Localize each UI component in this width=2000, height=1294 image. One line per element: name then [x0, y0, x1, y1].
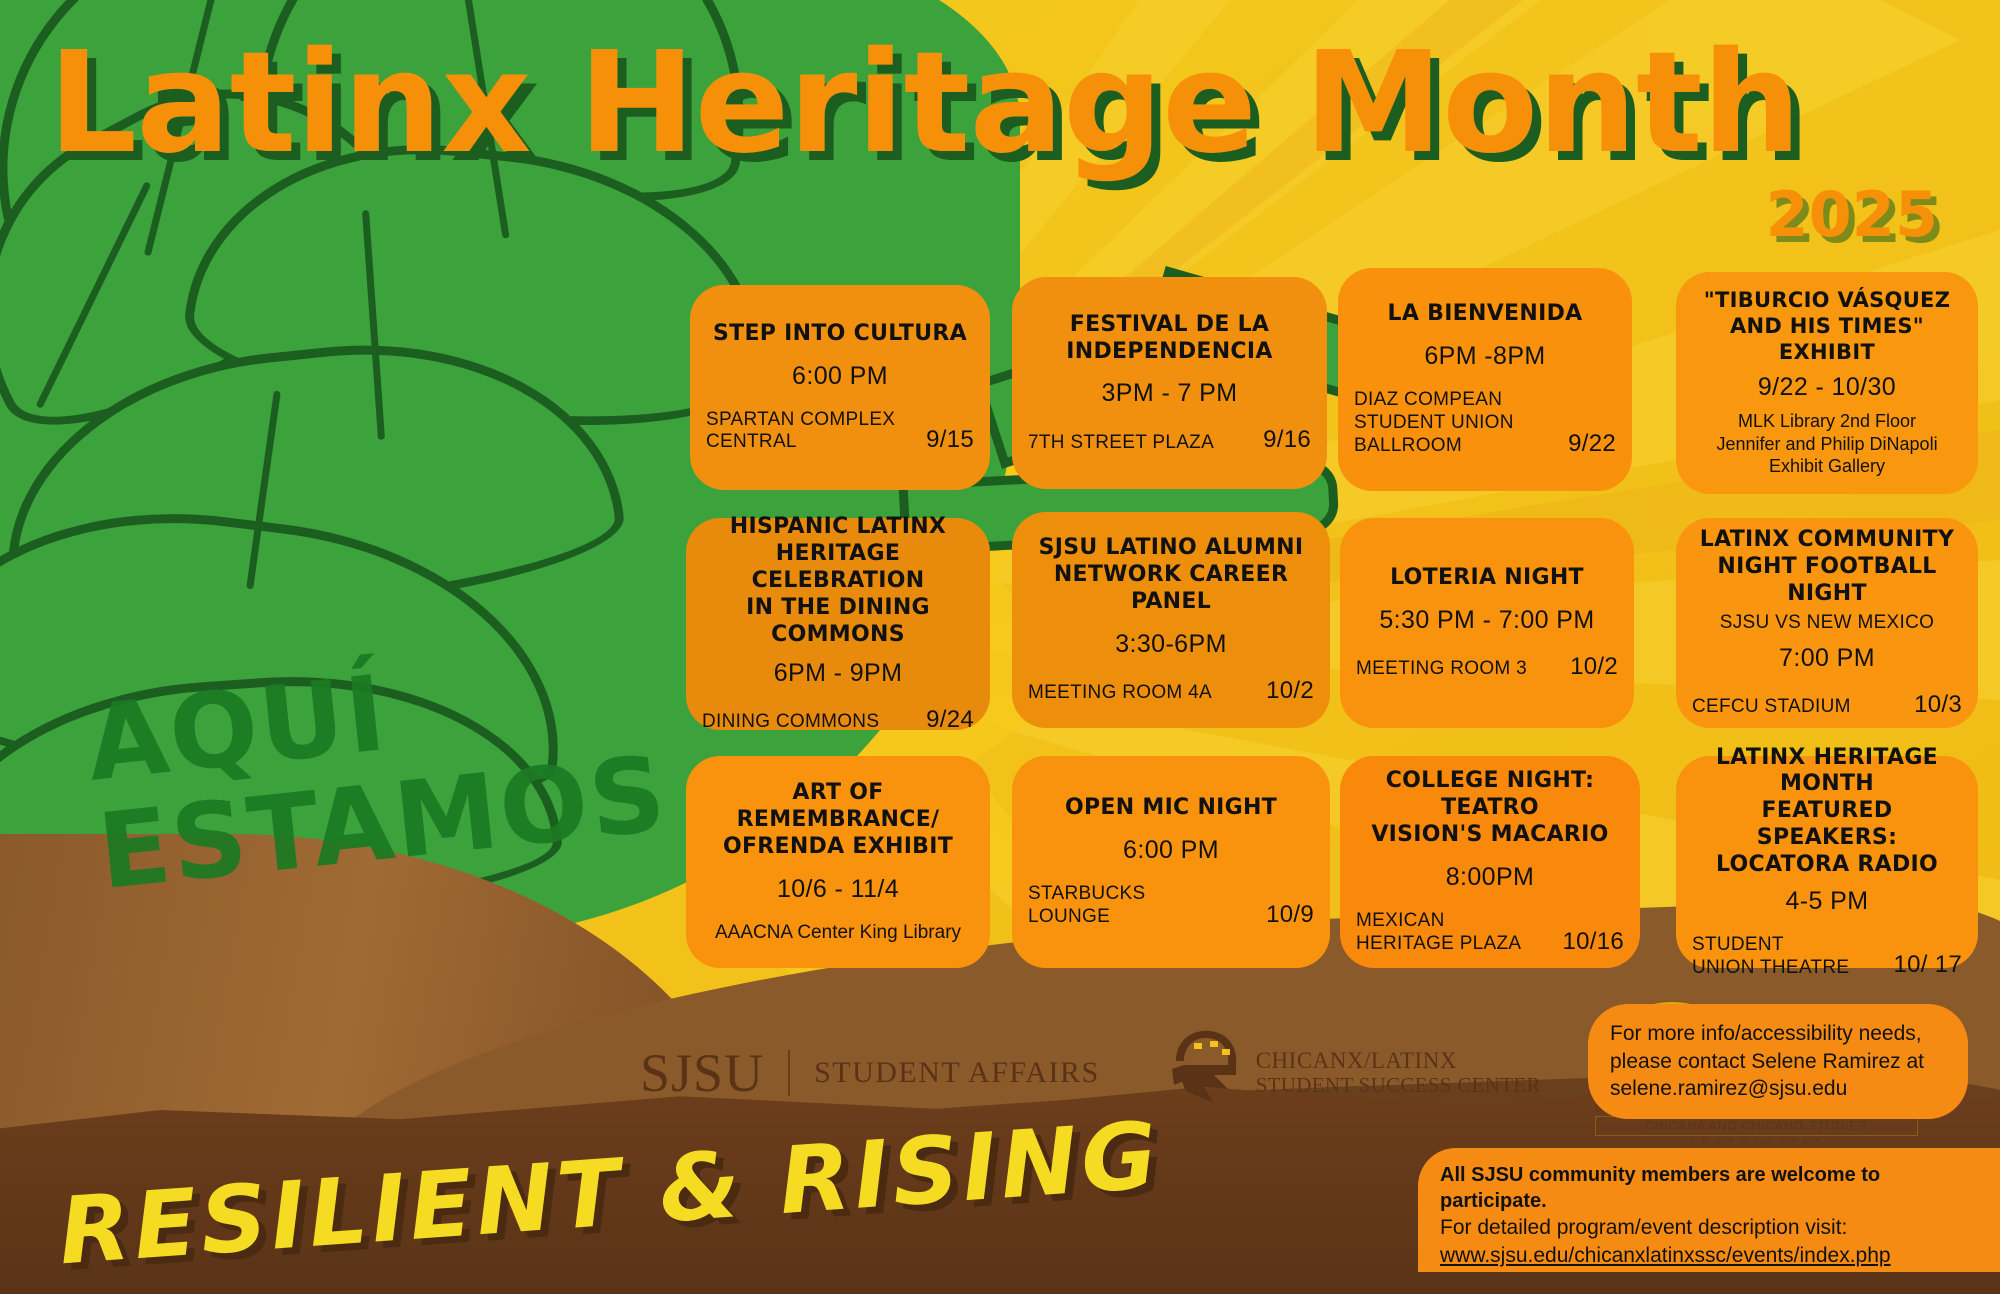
chicanx-latinx-logo: CHICANX/LATINX STUDENT SUCCESS CENTER [1158, 1025, 1541, 1121]
event-location-line: CENTRAL [706, 431, 895, 454]
event-card[interactable]: "TIBURCIO VÁSQUEZ AND HIS TIMES" EXHIBIT… [1676, 272, 1978, 494]
event-location: AAACNA Center King Library [702, 922, 974, 944]
event-card[interactable]: LOTERIA NIGHT 5:30 PM - 7:00 PM MEETING … [1340, 518, 1634, 728]
student-affairs-label: STUDENT AFFAIRS [814, 1056, 1100, 1090]
event-time: 3PM - 7 PM [1028, 379, 1311, 408]
event-footer: MEETING ROOM 3 10/2 [1356, 653, 1618, 681]
event-title-line: FEATURED SPEAKERS: [1692, 798, 1962, 852]
event-time: 7:00 PM [1692, 644, 1962, 673]
event-title-line: SJSU LATINO ALUMNI [1028, 535, 1314, 562]
event-title-line: ART OF REMEMBRANCE/ [702, 780, 974, 834]
event-date: 9/22 [1568, 430, 1616, 458]
event-time: 5:30 PM - 7:00 PM [1356, 606, 1618, 635]
welcome-note: All SJSU community members are welcome t… [1440, 1162, 1980, 1214]
event-location-line: Jennifer and Philip DiNapoli [1692, 433, 1962, 456]
event-date: 10/16 [1562, 928, 1624, 956]
event-time: 4-5 PM [1692, 887, 1962, 916]
event-location-line: SPARTAN COMPLEX [706, 409, 895, 432]
event-location: DINING COMMONS [702, 711, 879, 734]
logo-divider [788, 1050, 790, 1096]
event-footer: STARBUCKS LOUNGE 10/9 [1028, 883, 1314, 929]
event-title-line: COLLEGE NIGHT: TEATRO [1356, 768, 1624, 822]
event-date: 10/2 [1570, 653, 1618, 681]
event-location-line: STUDENT UNION [1354, 412, 1514, 435]
event-footer: MEETING ROOM 4A 10/2 [1028, 677, 1314, 705]
event-card[interactable]: FESTIVAL DE LA INDEPENDENCIA 3PM - 7 PM … [1012, 277, 1327, 489]
event-card[interactable]: ART OF REMEMBRANCE/ OFRENDA EXHIBIT 10/6… [686, 756, 990, 968]
event-title-line: LATINX COMMUNITY [1692, 527, 1962, 554]
event-title-line: NIGHT FOOTBALL NIGHT [1692, 554, 1962, 608]
event-title: HISPANIC LATINX HERITAGE CELEBRATION IN … [702, 514, 974, 648]
event-location-line: DIAZ COMPEAN [1354, 389, 1514, 412]
event-title-line: "TIBURCIO VÁSQUEZ [1692, 288, 1962, 314]
event-title-line: LOCATORA RADIO [1692, 852, 1962, 879]
event-location: 7TH STREET PLAZA [1028, 432, 1214, 455]
event-date: 9/15 [926, 426, 974, 454]
event-time: 3:30-6PM [1028, 630, 1314, 659]
event-card[interactable]: LA BIENVENIDA 6PM -8PM DIAZ COMPEAN STUD… [1338, 268, 1632, 491]
event-title: LOTERIA NIGHT [1356, 565, 1618, 592]
event-time: 9/22 - 10/30 [1692, 373, 1962, 402]
event-date: 10/9 [1266, 901, 1314, 929]
contact-email[interactable]: selene.ramirez@sjsu.edu [1610, 1075, 1946, 1103]
event-title-line: HERITAGE CELEBRATION [702, 541, 974, 595]
event-title-line: LATINX HERITAGE MONTH [1692, 745, 1962, 799]
event-time: 6PM - 9PM [702, 659, 974, 688]
event-location: MEXICAN HERITAGE PLAZA [1356, 910, 1521, 956]
event-location-line: MLK Library 2nd Floor [1692, 410, 1962, 433]
event-footer: STUDENT UNION THEATRE 10/ 17 [1692, 934, 1962, 980]
event-title-line: AND HIS TIMES" EXHIBIT [1692, 314, 1962, 365]
event-title-line: FESTIVAL DE LA [1028, 312, 1311, 339]
chicanx-line-1: CHICANX/LATINX [1256, 1048, 1541, 1074]
event-footer: DINING COMMONS 9/24 [702, 706, 974, 734]
event-card[interactable]: COLLEGE NIGHT: TEATRO VISION'S MACARIO 8… [1340, 756, 1640, 968]
event-card[interactable]: SJSU LATINO ALUMNI NETWORK CAREER PANEL … [1012, 512, 1330, 728]
event-time: 10/6 - 11/4 [702, 875, 974, 904]
event-time: 6:00 PM [706, 362, 974, 391]
event-title: COLLEGE NIGHT: TEATRO VISION'S MACARIO [1356, 768, 1624, 848]
event-title-line: VISION'S MACARIO [1356, 822, 1624, 849]
event-title: FESTIVAL DE LA INDEPENDENCIA [1028, 312, 1311, 366]
poster-root: Latinx Heritage Month 2025 AQUÍ ESTAMOS … [0, 0, 2000, 1294]
event-date: 10/2 [1266, 677, 1314, 705]
event-location-line: BALLROOM [1354, 435, 1514, 458]
event-date: 10/3 [1914, 691, 1962, 719]
ccs-founded-label: F O U N D E D 1 9 6 9 [1595, 1138, 1918, 1145]
event-card[interactable]: STEP INTO CULTURA 6:00 PM SPARTAN COMPLE… [690, 285, 990, 490]
event-title-line: NETWORK CAREER PANEL [1028, 562, 1314, 616]
event-location: MEETING ROOM 4A [1028, 682, 1212, 705]
program-note: For detailed program/event description v… [1440, 1214, 1980, 1242]
chicanx-latinx-text: CHICANX/LATINX STUDENT SUCCESS CENTER [1256, 1048, 1541, 1097]
contact-info-box: For more info/accessibility needs, pleas… [1588, 1004, 1968, 1119]
event-location: DIAZ COMPEAN STUDENT UNION BALLROOM [1354, 389, 1514, 457]
year-label: 2025 [1765, 178, 1938, 251]
event-footer: CEFCU STADIUM 10/3 [1692, 691, 1962, 719]
event-location: SPARTAN COMPLEX CENTRAL [706, 409, 895, 455]
event-location-line: STUDENT [1692, 934, 1849, 957]
event-date: 9/24 [926, 706, 974, 734]
event-title: SJSU LATINO ALUMNI NETWORK CAREER PANEL [1028, 535, 1314, 615]
contact-line-2: please contact Selene Ramirez at [1610, 1048, 1946, 1076]
event-footer: DIAZ COMPEAN STUDENT UNION BALLROOM 9/22 [1354, 389, 1616, 457]
bottom-info-bar: All SJSU community members are welcome t… [1418, 1148, 2000, 1272]
event-time: 6:00 PM [1028, 836, 1314, 865]
events-url-link[interactable]: www.sjsu.edu/chicanxlatinxssc/events/ind… [1440, 1242, 1980, 1269]
event-title: ART OF REMEMBRANCE/ OFRENDA EXHIBIT [702, 780, 974, 860]
event-title-line: INDEPENDENCIA [1028, 339, 1311, 366]
event-card[interactable]: HISPANIC LATINX HERITAGE CELEBRATION IN … [686, 518, 990, 730]
event-date: 10/ 17 [1893, 951, 1962, 979]
event-location: MEETING ROOM 3 [1356, 658, 1527, 681]
event-card[interactable]: OPEN MIC NIGHT 6:00 PM STARBUCKS LOUNGE … [1012, 756, 1330, 968]
event-title: LATINX HERITAGE MONTH FEATURED SPEAKERS:… [1692, 745, 1962, 879]
event-date: 9/16 [1263, 426, 1311, 454]
sjsu-logo: SJSU [640, 1046, 764, 1100]
contact-line-1: For more info/accessibility needs, [1610, 1020, 1946, 1048]
event-card[interactable]: LATINX COMMUNITY NIGHT FOOTBALL NIGHT SJ… [1676, 518, 1978, 728]
chicanx-line-2: STUDENT SUCCESS CENTER [1256, 1074, 1541, 1098]
event-title: OPEN MIC NIGHT [1028, 795, 1314, 822]
event-title-line: HISPANIC LATINX [702, 514, 974, 541]
event-footer: MEXICAN HERITAGE PLAZA 10/16 [1356, 910, 1624, 956]
event-location: STARBUCKS LOUNGE [1028, 883, 1232, 929]
event-subtitle: SJSU VS NEW MEXICO [1692, 612, 1962, 634]
event-card[interactable]: LATINX HERITAGE MONTH FEATURED SPEAKERS:… [1676, 756, 1978, 968]
event-location-line: UNION THEATRE [1692, 957, 1849, 980]
event-time: 6PM -8PM [1354, 342, 1616, 371]
event-title: "TIBURCIO VÁSQUEZ AND HIS TIMES" EXHIBIT [1692, 288, 1962, 365]
page-title: Latinx Heritage Month [48, 22, 1801, 185]
event-location: STUDENT UNION THEATRE [1692, 934, 1849, 980]
event-title-line: IN THE DINING COMMONS [702, 595, 974, 649]
event-location-line: Exhibit Gallery [1692, 455, 1962, 478]
event-title: LA BIENVENIDA [1354, 301, 1616, 328]
event-title: STEP INTO CULTURA [706, 321, 974, 348]
event-location: MLK Library 2nd Floor Jennifer and Phili… [1692, 410, 1962, 478]
spartan-helmet-icon [1158, 1025, 1244, 1121]
event-location-line: HERITAGE PLAZA [1356, 933, 1521, 956]
event-location-line: MEXICAN [1356, 910, 1521, 933]
event-title: LATINX COMMUNITY NIGHT FOOTBALL NIGHT [1692, 527, 1962, 607]
event-footer: 7TH STREET PLAZA 9/16 [1028, 426, 1311, 454]
event-footer: SPARTAN COMPLEX CENTRAL 9/15 [706, 409, 974, 455]
event-time: 8:00PM [1356, 863, 1624, 892]
event-location: CEFCU STADIUM [1692, 696, 1851, 719]
event-title-line: OFRENDA EXHIBIT [702, 834, 974, 861]
